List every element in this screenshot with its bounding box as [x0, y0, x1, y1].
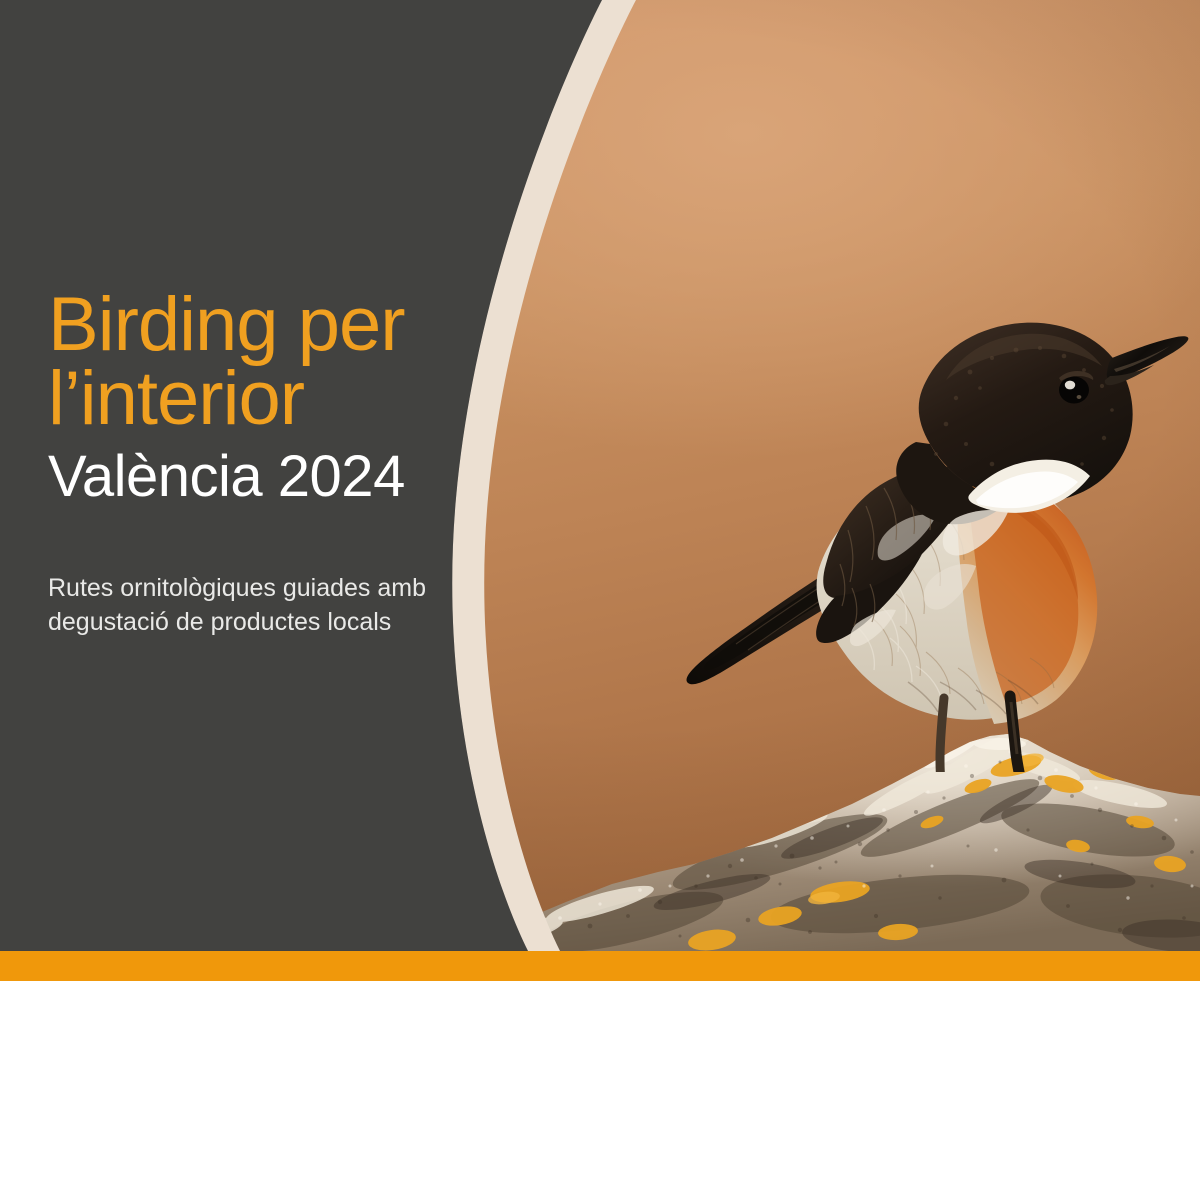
footer: ORGANITZEN: COL·LABOREN: — [0, 981, 1200, 1200]
headline-block: Birding per l’interior València 2024 Rut… — [48, 288, 568, 640]
tagline: Rutes ornitològiques guiades amb degusta… — [48, 572, 568, 640]
page-title: Birding per l’interior — [48, 288, 568, 435]
orange-divider-bar — [0, 951, 1200, 981]
poster-canvas: Birding per l’interior València 2024 Rut… — [0, 0, 1200, 1200]
page-subtitle: València 2024 — [48, 445, 568, 510]
